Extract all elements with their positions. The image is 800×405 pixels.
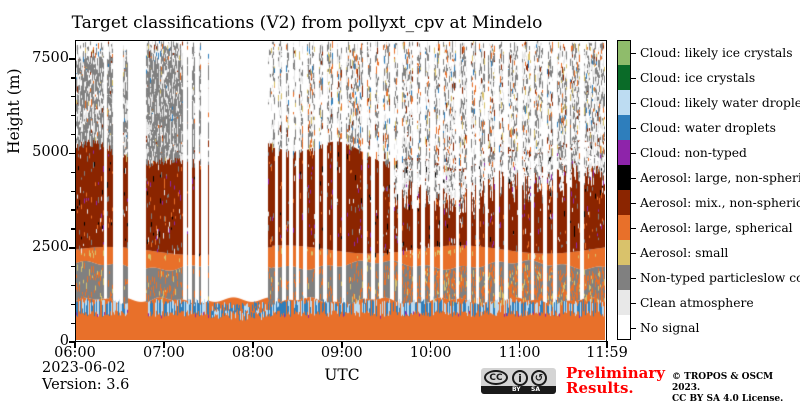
legend-swatch-4 [617,140,631,165]
legend-label-11: No signal [640,322,699,334]
y-minor-tick [71,96,76,97]
legend-label-5: Aerosol: large, non-spherical [640,172,800,184]
version-text: Version: 3.6 [42,377,129,394]
legend-swatch-0 [617,40,631,65]
y-tick-label-7500: 7500 [23,51,69,65]
y-minor-tick [71,285,76,286]
legend-tick [631,103,636,104]
cc-sa-label: SA [531,386,540,394]
x-tick-label-0700: 07:00 [129,345,199,361]
x-axis-label: UTC [272,366,412,384]
legend-swatch-9 [617,265,631,290]
legend-label-0: Cloud: likely ice crystals [640,47,793,59]
cc-icon: CC [484,370,508,385]
x-tick-label-0600: 06:00 [40,345,110,361]
legend-tick [631,78,636,79]
legend-swatch-5 [617,165,631,190]
legend-swatch-11 [617,315,631,340]
legend-swatch-10 [617,290,631,315]
legend-swatch-8 [617,240,631,265]
cc-sa-icon: ↺ [531,370,547,386]
date-text: 2023-06-02 [42,360,126,377]
y-minor-tick [71,323,76,324]
y-minor-tick [71,134,76,135]
copyright-line-1: © TROPOS & OSCM 2023. [672,372,800,394]
legend-tick [631,328,636,329]
legend-tick [631,303,636,304]
y-minor-tick [71,115,76,116]
y-tick-label-2500: 2500 [23,240,69,254]
y-major-tick [69,58,76,60]
legend-tick [631,253,636,254]
y-minor-tick [71,172,76,173]
copyright-notice: © TROPOS & OSCM 2023. CC BY SA 4.0 Licen… [672,372,800,405]
legend-swatch-3 [617,115,631,140]
legend-swatch-1 [617,65,631,90]
legend-tick [631,153,636,154]
cc-by-icon: i [512,370,528,386]
legend-label-9: Non-typed particleslow conc. [640,272,800,284]
preliminary-line-2: Results. [566,381,665,396]
x-tick-label-1159: 11:59 [572,345,642,361]
classification-plot[interactable] [75,40,607,342]
y-minor-tick [71,209,76,210]
y-major-tick [69,153,76,155]
legend-label-10: Clean atmosphere [640,297,754,309]
creative-commons-badge[interactable]: CC i ↺ BY SA [481,368,556,394]
y-minor-tick [71,266,76,267]
y-minor-tick [71,77,76,78]
x-tick-label-1100: 11:00 [485,345,555,361]
cc-by-label: BY [512,386,521,394]
x-tick-label-0900: 09:00 [307,345,377,361]
legend-swatch-2 [617,90,631,115]
preliminary-results-notice: Preliminary Results. [566,366,665,396]
y-minor-tick [71,228,76,229]
target-classification-heatmap [76,41,605,340]
legend-label-4: Cloud: non-typed [640,147,747,159]
page-title: Target classifications (V2) from pollyxt… [0,13,614,33]
legend-label-7: Aerosol: large, spherical [640,222,793,234]
legend-label-6: Aerosol: mix., non-spherical [640,197,800,209]
legend-label-8: Aerosol: small [640,247,728,259]
legend-swatch-7 [617,215,631,240]
y-major-tick [69,247,76,249]
legend-swatch-6 [617,190,631,215]
y-minor-tick [71,304,76,305]
legend-label-2: Cloud: likely water droplets [640,97,800,109]
y-tick-label-5000: 5000 [23,145,69,159]
x-tick-label-1000: 10:00 [396,345,466,361]
legend-label-3: Cloud: water droplets [640,122,776,134]
y-axis-tick-labels: 0250050007500 [17,0,69,400]
x-tick-label-0800: 08:00 [218,345,288,361]
y-minor-tick [71,191,76,192]
classification-legend: Cloud: likely ice crystalsCloud: ice cry… [617,40,631,340]
legend-label-1: Cloud: ice crystals [640,72,755,84]
legend-tick [631,228,636,229]
legend-tick [631,53,636,54]
legend-tick [631,128,636,129]
legend-tick [631,278,636,279]
legend-tick [631,203,636,204]
legend-tick [631,178,636,179]
